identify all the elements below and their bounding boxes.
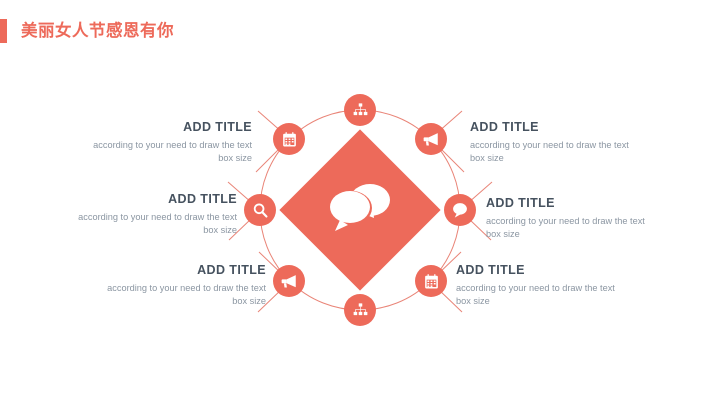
- node-bottom-right[interactable]: [415, 265, 447, 297]
- callout-description: according to your need to draw the text …: [75, 211, 237, 239]
- callout-top-right: ADD TITLE according to your need to draw…: [470, 120, 632, 166]
- node-bottom[interactable]: [344, 294, 376, 326]
- calendar-icon: [281, 131, 298, 148]
- megaphone-icon: [280, 272, 298, 290]
- callout-bottom-left: ADD TITLE according to your need to draw…: [104, 263, 266, 309]
- sitemap-icon: [352, 102, 369, 119]
- callout-description: according to your need to draw the text …: [90, 139, 252, 167]
- callout-title: ADD TITLE: [90, 120, 252, 136]
- node-right[interactable]: [444, 194, 476, 226]
- node-top[interactable]: [344, 94, 376, 126]
- callout-title: ADD TITLE: [75, 192, 237, 208]
- callout-title: ADD TITLE: [470, 120, 632, 136]
- callout-title: ADD TITLE: [486, 196, 648, 212]
- node-top-right[interactable]: [415, 123, 447, 155]
- callout-top-left: ADD TITLE according to your need to draw…: [90, 120, 252, 166]
- callout-bottom-right: ADD TITLE according to your need to draw…: [456, 263, 618, 309]
- callout-title: ADD TITLE: [104, 263, 266, 279]
- circular-diagram: ADD TITLE according to your need to draw…: [0, 0, 720, 405]
- node-left[interactable]: [244, 194, 276, 226]
- callout-title: ADD TITLE: [456, 263, 618, 279]
- callout-left: ADD TITLE according to your need to draw…: [75, 192, 237, 238]
- callout-description: according to your need to draw the text …: [486, 215, 648, 243]
- node-top-left[interactable]: [273, 123, 305, 155]
- speech-bubble-icon: [451, 201, 469, 219]
- callout-right: ADD TITLE according to your need to draw…: [486, 196, 648, 242]
- callout-description: according to your need to draw the text …: [456, 282, 618, 310]
- megaphone-icon: [422, 130, 440, 148]
- node-bottom-left[interactable]: [273, 265, 305, 297]
- calendar-icon: [423, 273, 440, 290]
- callout-description: according to your need to draw the text …: [470, 139, 632, 167]
- sitemap-icon: [352, 302, 369, 319]
- search-icon: [252, 202, 269, 219]
- callout-description: according to your need to draw the text …: [104, 282, 266, 310]
